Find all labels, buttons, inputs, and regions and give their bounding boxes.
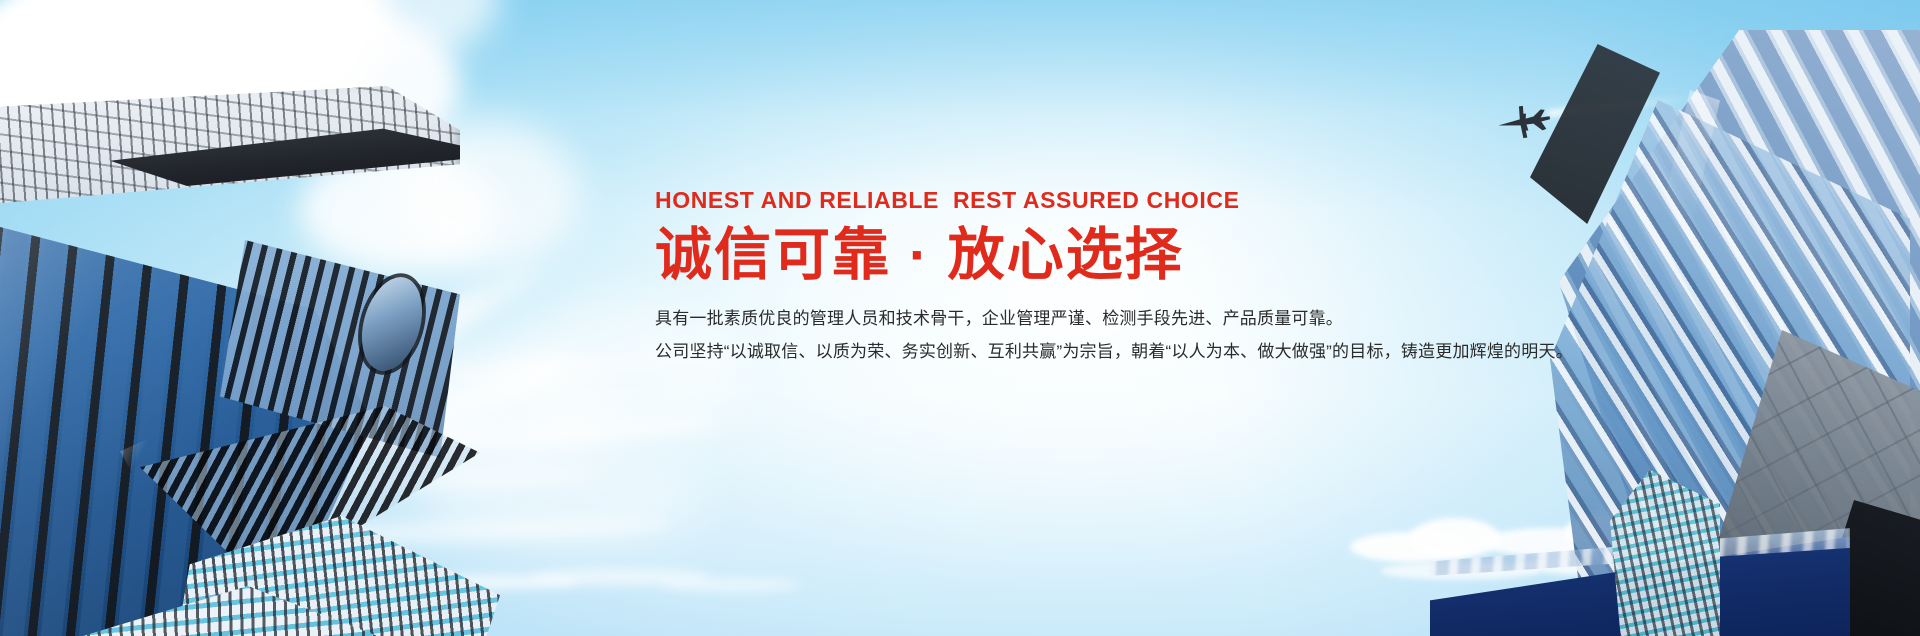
- banner-eyebrow: HONEST AND RELIABLE REST ASSURED CHOICE: [655, 186, 1535, 215]
- banner-body-line-1: 具有一批素质优良的管理人员和技术骨干，企业管理严谨、检测手段先进、产品质量可靠。: [655, 302, 1535, 335]
- banner-body: 具有一批素质优良的管理人员和技术骨干，企业管理严谨、检测手段先进、产品质量可靠。…: [655, 302, 1535, 368]
- left-skyscraper: [0, 86, 480, 636]
- hero-banner: HONEST AND RELIABLE REST ASSURED CHOICE …: [0, 0, 1920, 636]
- banner-copy-block: HONEST AND RELIABLE REST ASSURED CHOICE …: [655, 186, 1535, 369]
- banner-body-line-2: 公司坚持“以诚取信、以质为荣、务实创新、互利共赢”为宗旨，朝着“以人为本、做大做…: [655, 335, 1535, 368]
- banner-headline: 诚信可靠 · 放心选择: [655, 221, 1535, 291]
